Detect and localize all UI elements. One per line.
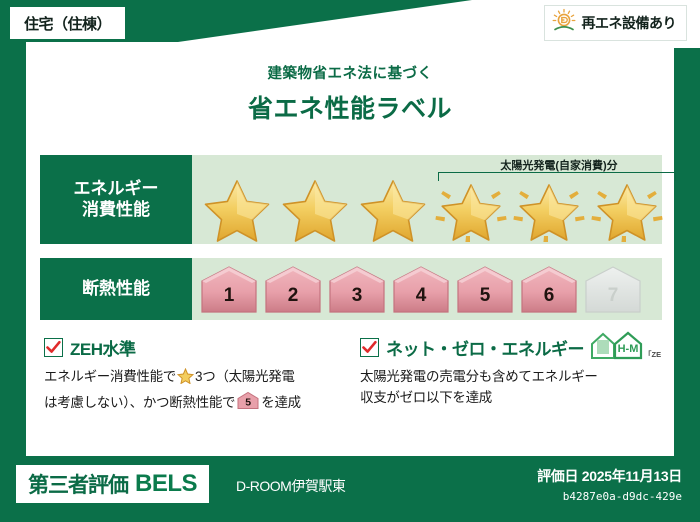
solar-annotation-text: 太陽光発電(自家消費)分 (436, 157, 682, 173)
bels-en-label: BELS (135, 470, 197, 498)
insulation-level-badge: 6 (518, 262, 580, 316)
insulation-level-badge: 1 (198, 262, 260, 316)
bels-certification-badge: 第三者評価 BELS (16, 465, 209, 503)
label-footer: 第三者評価 BELS D-ROOM伊賀駅東 評価日 2025年11月13日 b4… (0, 456, 700, 522)
bels-jp-label: 第三者評価 (28, 469, 128, 499)
energy-label-line2: 消費性能 (82, 200, 150, 221)
criteria-net-zero: ネット・ゼロ・エネルギー H-M 「ZEH-M」 太陽光発電の売電分も含めてエネ… (360, 334, 660, 417)
insulation-level-inline-badge: 5 (236, 391, 260, 417)
zeh-heading: ZEH水準 (70, 335, 136, 360)
evaluation-date: 評価日 2025年11月13日 (537, 466, 682, 486)
net-zero-heading: ネット・ゼロ・エネルギー (386, 335, 584, 360)
star-icon (354, 174, 432, 242)
insulation-level-badge: 2 (262, 262, 324, 316)
insulation-label-text: 断熱性能 (82, 279, 150, 300)
project-name: D-ROOM伊賀駅東 (236, 476, 345, 496)
insulation-level-value: 4 (390, 285, 452, 307)
insulation-level-value: 7 (582, 285, 644, 307)
evaluation-id: b4287e0a-d9dc-429e (537, 490, 682, 503)
check-icon (360, 338, 379, 357)
zeh-body-line1b: 3つ（太陽光発電 (195, 369, 295, 384)
zeh-body-line2a: は考慮しない）、かつ断熱性能で (44, 395, 235, 410)
building-type-label: 住宅（住棟） (24, 13, 111, 34)
star-solar-icon (432, 174, 510, 242)
svg-text:「ZEH-M」: 「ZEH-M」 (644, 349, 661, 359)
net-zero-heading-row: ネット・ゼロ・エネルギー H-M 「ZEH-M」 (360, 334, 660, 360)
energy-label-line1: エネルギー (74, 179, 159, 200)
star-rating (192, 173, 662, 243)
net-zero-body-line2: 収支がゼロ以下を達成 (360, 388, 660, 409)
insulation-level-badge-inactive: 7 (582, 262, 644, 316)
evaluation-info: 評価日 2025年11月13日 b4287e0a-d9dc-429e (537, 466, 682, 503)
insulation-performance-label: 断熱性能 (40, 258, 192, 320)
insulation-level-value: 3 (326, 285, 388, 307)
insulation-level-value: 6 (518, 285, 580, 307)
insulation-level-badge: 4 (390, 262, 452, 316)
renewable-equipment-badge: 再エネ設備あり (544, 5, 688, 41)
star-solar-icon (510, 174, 588, 242)
label-card: 建築物省エネ法に基づく 省エネ性能ラベル エネルギー 消費性能 太陽光発電(自家… (26, 42, 674, 456)
energy-performance-body: 太陽光発電(自家消費)分 (192, 155, 662, 244)
building-type-tag: 住宅（住棟） (10, 7, 125, 39)
star-solar-icon (588, 174, 666, 242)
star-icon (177, 368, 194, 391)
svg-text:5: 5 (245, 397, 251, 409)
zeh-description: エネルギー消費性能で3つ（太陽光発電 は考慮しない）、かつ断熱性能で5を達成 (44, 367, 344, 417)
insulation-performance-body: 1 2 3 (192, 258, 662, 320)
zeh-body-line2b: を達成 (261, 395, 301, 410)
bels-energy-label: 住宅（住棟） 再エネ設備あり (0, 0, 700, 522)
check-icon (44, 338, 63, 357)
title-block: 建築物省エネ法に基づく 省エネ性能ラベル (26, 42, 674, 125)
insulation-level-value: 1 (198, 285, 260, 307)
zeh-m-logo-icon: H-M 「ZEH-M」 (589, 328, 661, 367)
zeh-body-line1a: エネルギー消費性能で (44, 369, 176, 384)
label-subtitle: 建築物省エネ法に基づく (26, 62, 674, 83)
page-title: 省エネ性能ラベル (26, 89, 674, 125)
zeh-heading-row: ZEH水準 (44, 334, 344, 360)
insulation-performance-row: 断熱性能 (40, 258, 662, 320)
criteria-zeh: ZEH水準 エネルギー消費性能で3つ（太陽光発電 は考慮しない）、かつ断熱性能で… (44, 334, 344, 417)
star-icon (276, 174, 354, 242)
renewable-equipment-label: 再エネ設備あり (582, 13, 677, 33)
solar-sun-icon (551, 8, 577, 39)
criteria-section: ZEH水準 エネルギー消費性能で3つ（太陽光発電 は考慮しない）、かつ断熱性能で… (44, 334, 660, 417)
insulation-level-badge: 5 (454, 262, 516, 316)
energy-performance-row: エネルギー 消費性能 太陽光発電(自家消費)分 (40, 155, 662, 244)
svg-text:H-M: H-M (618, 343, 639, 355)
insulation-level-value: 5 (454, 285, 516, 307)
net-zero-body-line1: 太陽光発電の売電分も含めてエネルギー (360, 367, 660, 388)
star-icon (198, 174, 276, 242)
insulation-level-badge: 3 (326, 262, 388, 316)
insulation-level-value: 2 (262, 285, 324, 307)
net-zero-description: 太陽光発電の売電分も含めてエネルギー 収支がゼロ以下を達成 (360, 367, 660, 409)
insulation-level-scale: 1 2 3 (198, 262, 644, 316)
energy-performance-label: エネルギー 消費性能 (40, 155, 192, 244)
